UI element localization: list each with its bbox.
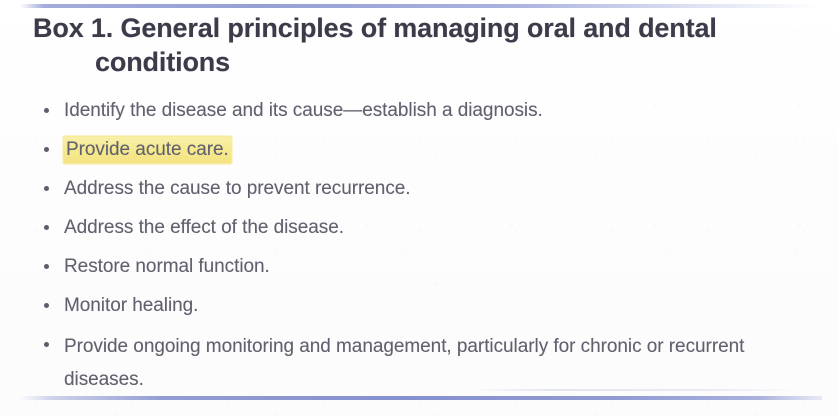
- list-item: Restore normal function.: [0, 252, 838, 291]
- scanned-box-figure: Box 1. General principles of managing or…: [0, 0, 838, 416]
- list-item-text: Restore normal function.: [64, 256, 270, 277]
- list-item-text: Identify the disease and its cause—estab…: [64, 100, 543, 121]
- list-item-text-highlighted: Provide acute care.: [64, 137, 231, 163]
- list-item: Address the effect of the disease.: [0, 213, 838, 252]
- box-title: Box 1. General principles of managing or…: [33, 11, 803, 79]
- box-title-line-2: conditions: [33, 45, 803, 79]
- bullet-dot-icon: [44, 147, 49, 152]
- list-item-text: Monitor healing.: [64, 295, 198, 316]
- bullet-dot-icon: [44, 186, 49, 191]
- bullet-dot-icon: [44, 264, 49, 269]
- principles-list: Identify the disease and its cause—estab…: [0, 96, 838, 400]
- box-title-line-1: Box 1. General principles of managing or…: [33, 13, 717, 43]
- bullet-dot-icon: [44, 342, 49, 347]
- list-item: Address the cause to prevent recurrence.: [0, 174, 838, 213]
- list-item-text: Provide ongoing monitoring and managemen…: [64, 336, 744, 390]
- list-item-text: Address the effect of the disease.: [64, 217, 344, 238]
- bullet-dot-icon: [44, 303, 49, 308]
- top-rule-divider: [20, 4, 820, 8]
- list-item: Identify the disease and its cause—estab…: [0, 96, 838, 135]
- bullet-dot-icon: [44, 108, 49, 113]
- list-item: Monitor healing.: [0, 291, 838, 330]
- list-item: Provide ongoing monitoring and managemen…: [0, 330, 838, 400]
- list-item: Provide acute care.: [0, 135, 838, 174]
- bullet-dot-icon: [44, 225, 49, 230]
- list-item-text: Address the cause to prevent recurrence.: [64, 178, 411, 199]
